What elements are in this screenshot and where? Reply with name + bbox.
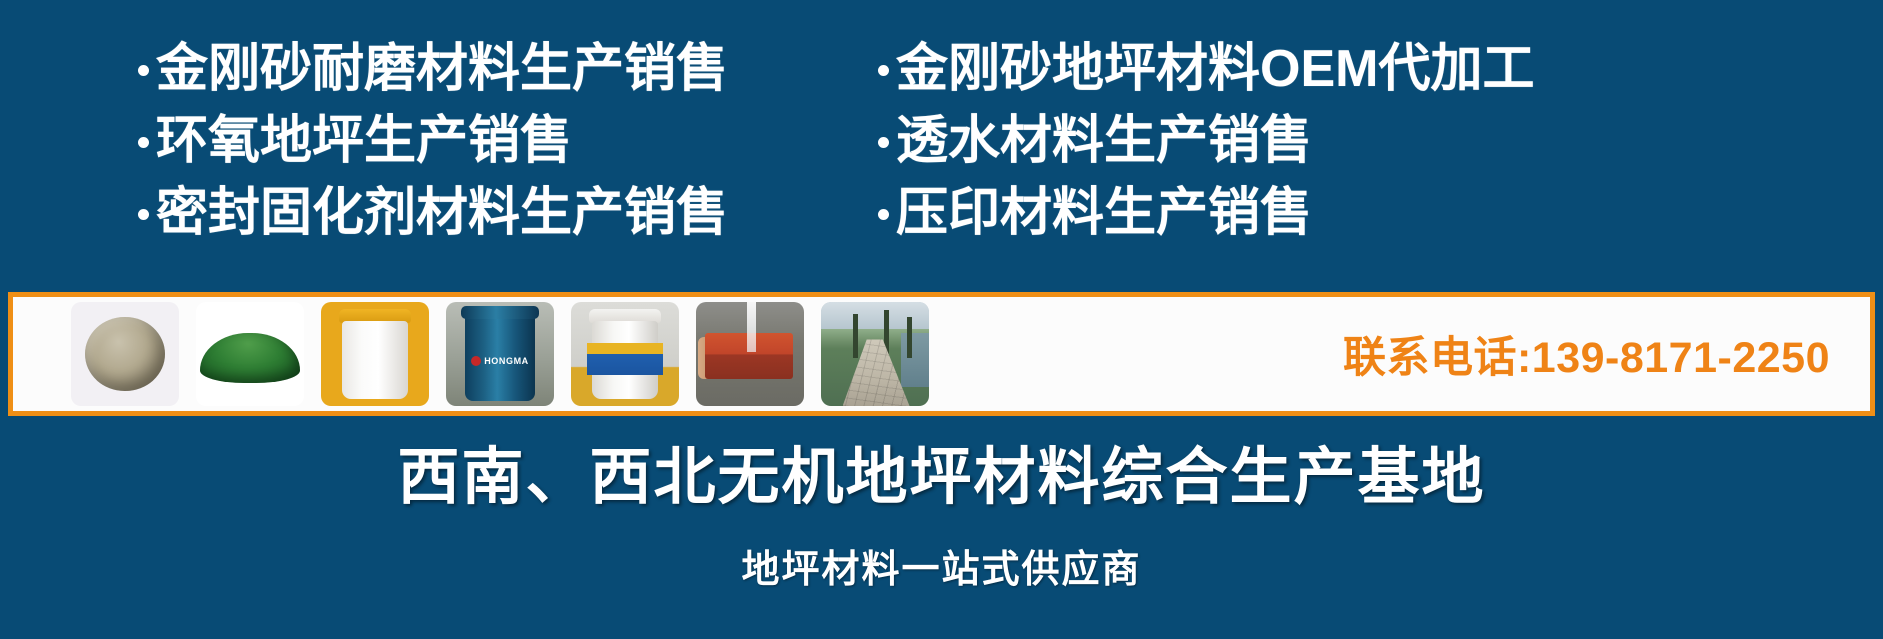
banner-headline: 西南、西北无机地坪材料综合生产基地 — [0, 440, 1883, 516]
bucket-shape — [342, 309, 409, 398]
advertisement-banner: 金刚砂耐磨材料生产销售 环氧地坪生产销售 密封固化剂材料生产销售 金刚砂地坪材料… — [0, 0, 1883, 639]
bullet-dot-icon — [878, 209, 889, 220]
service-label: 透水材料生产销售 — [896, 108, 1312, 174]
tree-shape — [907, 317, 912, 359]
service-item-2: 环氧地坪生产销售 — [138, 108, 878, 174]
contact-phone-number: 联系电话:139-8171-2250 — [1343, 323, 1830, 385]
bullet-dot-icon — [138, 209, 149, 220]
hongma-brand-text: HONGMA — [484, 356, 529, 366]
drum-rim — [461, 306, 539, 318]
product-photo-stamped-concrete-walkway — [821, 302, 929, 406]
service-label: 密封固化剂材料生产销售 — [156, 180, 728, 246]
product-photo-hongma-epoxy-drum: HONGMA — [446, 302, 554, 406]
tree-shape — [853, 314, 858, 358]
services-left-column: 金刚砂耐磨材料生产销售 环氧地坪生产销售 密封固化剂材料生产销售 — [138, 36, 878, 274]
sky-area — [821, 302, 929, 329]
powder-pile-shape — [85, 317, 165, 392]
product-photo-gray-abrasive-powder — [71, 302, 179, 406]
product-photo-gallery: HONGMA — [71, 302, 929, 406]
services-section: 金刚砂耐磨材料生产销售 环氧地坪生产销售 密封固化剂材料生产销售 金刚砂地坪材料… — [0, 36, 1883, 274]
service-label: 压印材料生产销售 — [896, 180, 1312, 246]
water-stream-shape — [747, 302, 757, 352]
product-photo-green-abrasive-powder — [196, 302, 304, 406]
product-photo-permeable-concrete-sample — [696, 302, 804, 406]
services-right-column: 金刚砂地坪材料OEM代加工 透水材料生产销售 压印材料生产销售 — [878, 36, 1638, 274]
bucket-label — [587, 343, 663, 375]
pond-area — [901, 333, 929, 387]
bullet-dot-icon — [878, 65, 889, 76]
bullet-dot-icon — [138, 137, 149, 148]
powder-pile-shape — [200, 333, 299, 383]
bullet-dot-icon — [138, 65, 149, 76]
bucket-shape — [592, 309, 659, 398]
service-label: 金刚砂地坪材料OEM代加工 — [896, 36, 1534, 102]
bullet-dot-icon — [878, 137, 889, 148]
service-item-1: 金刚砂耐磨材料生产销售 — [138, 36, 878, 102]
product-photo-concrete-sealer-bucket — [321, 302, 429, 406]
hongma-logo-icon — [471, 356, 481, 366]
hongma-brand-mark: HONGMA — [465, 354, 534, 369]
service-item-5: 透水材料生产销售 — [878, 108, 1638, 174]
service-label: 环氧地坪生产销售 — [156, 108, 572, 174]
product-strip: HONGMA — [8, 292, 1875, 416]
service-item-3: 密封固化剂材料生产销售 — [138, 180, 878, 246]
service-item-6: 压印材料生产销售 — [878, 180, 1638, 246]
bucket-label — [337, 343, 413, 375]
service-item-4: 金刚砂地坪材料OEM代加工 — [878, 36, 1638, 102]
banner-subheadline: 地坪材料一站式供应商 — [0, 545, 1883, 595]
product-photo-epoxy-floor-coating-bucket — [571, 302, 679, 406]
service-label: 金刚砂耐磨材料生产销售 — [156, 36, 728, 102]
